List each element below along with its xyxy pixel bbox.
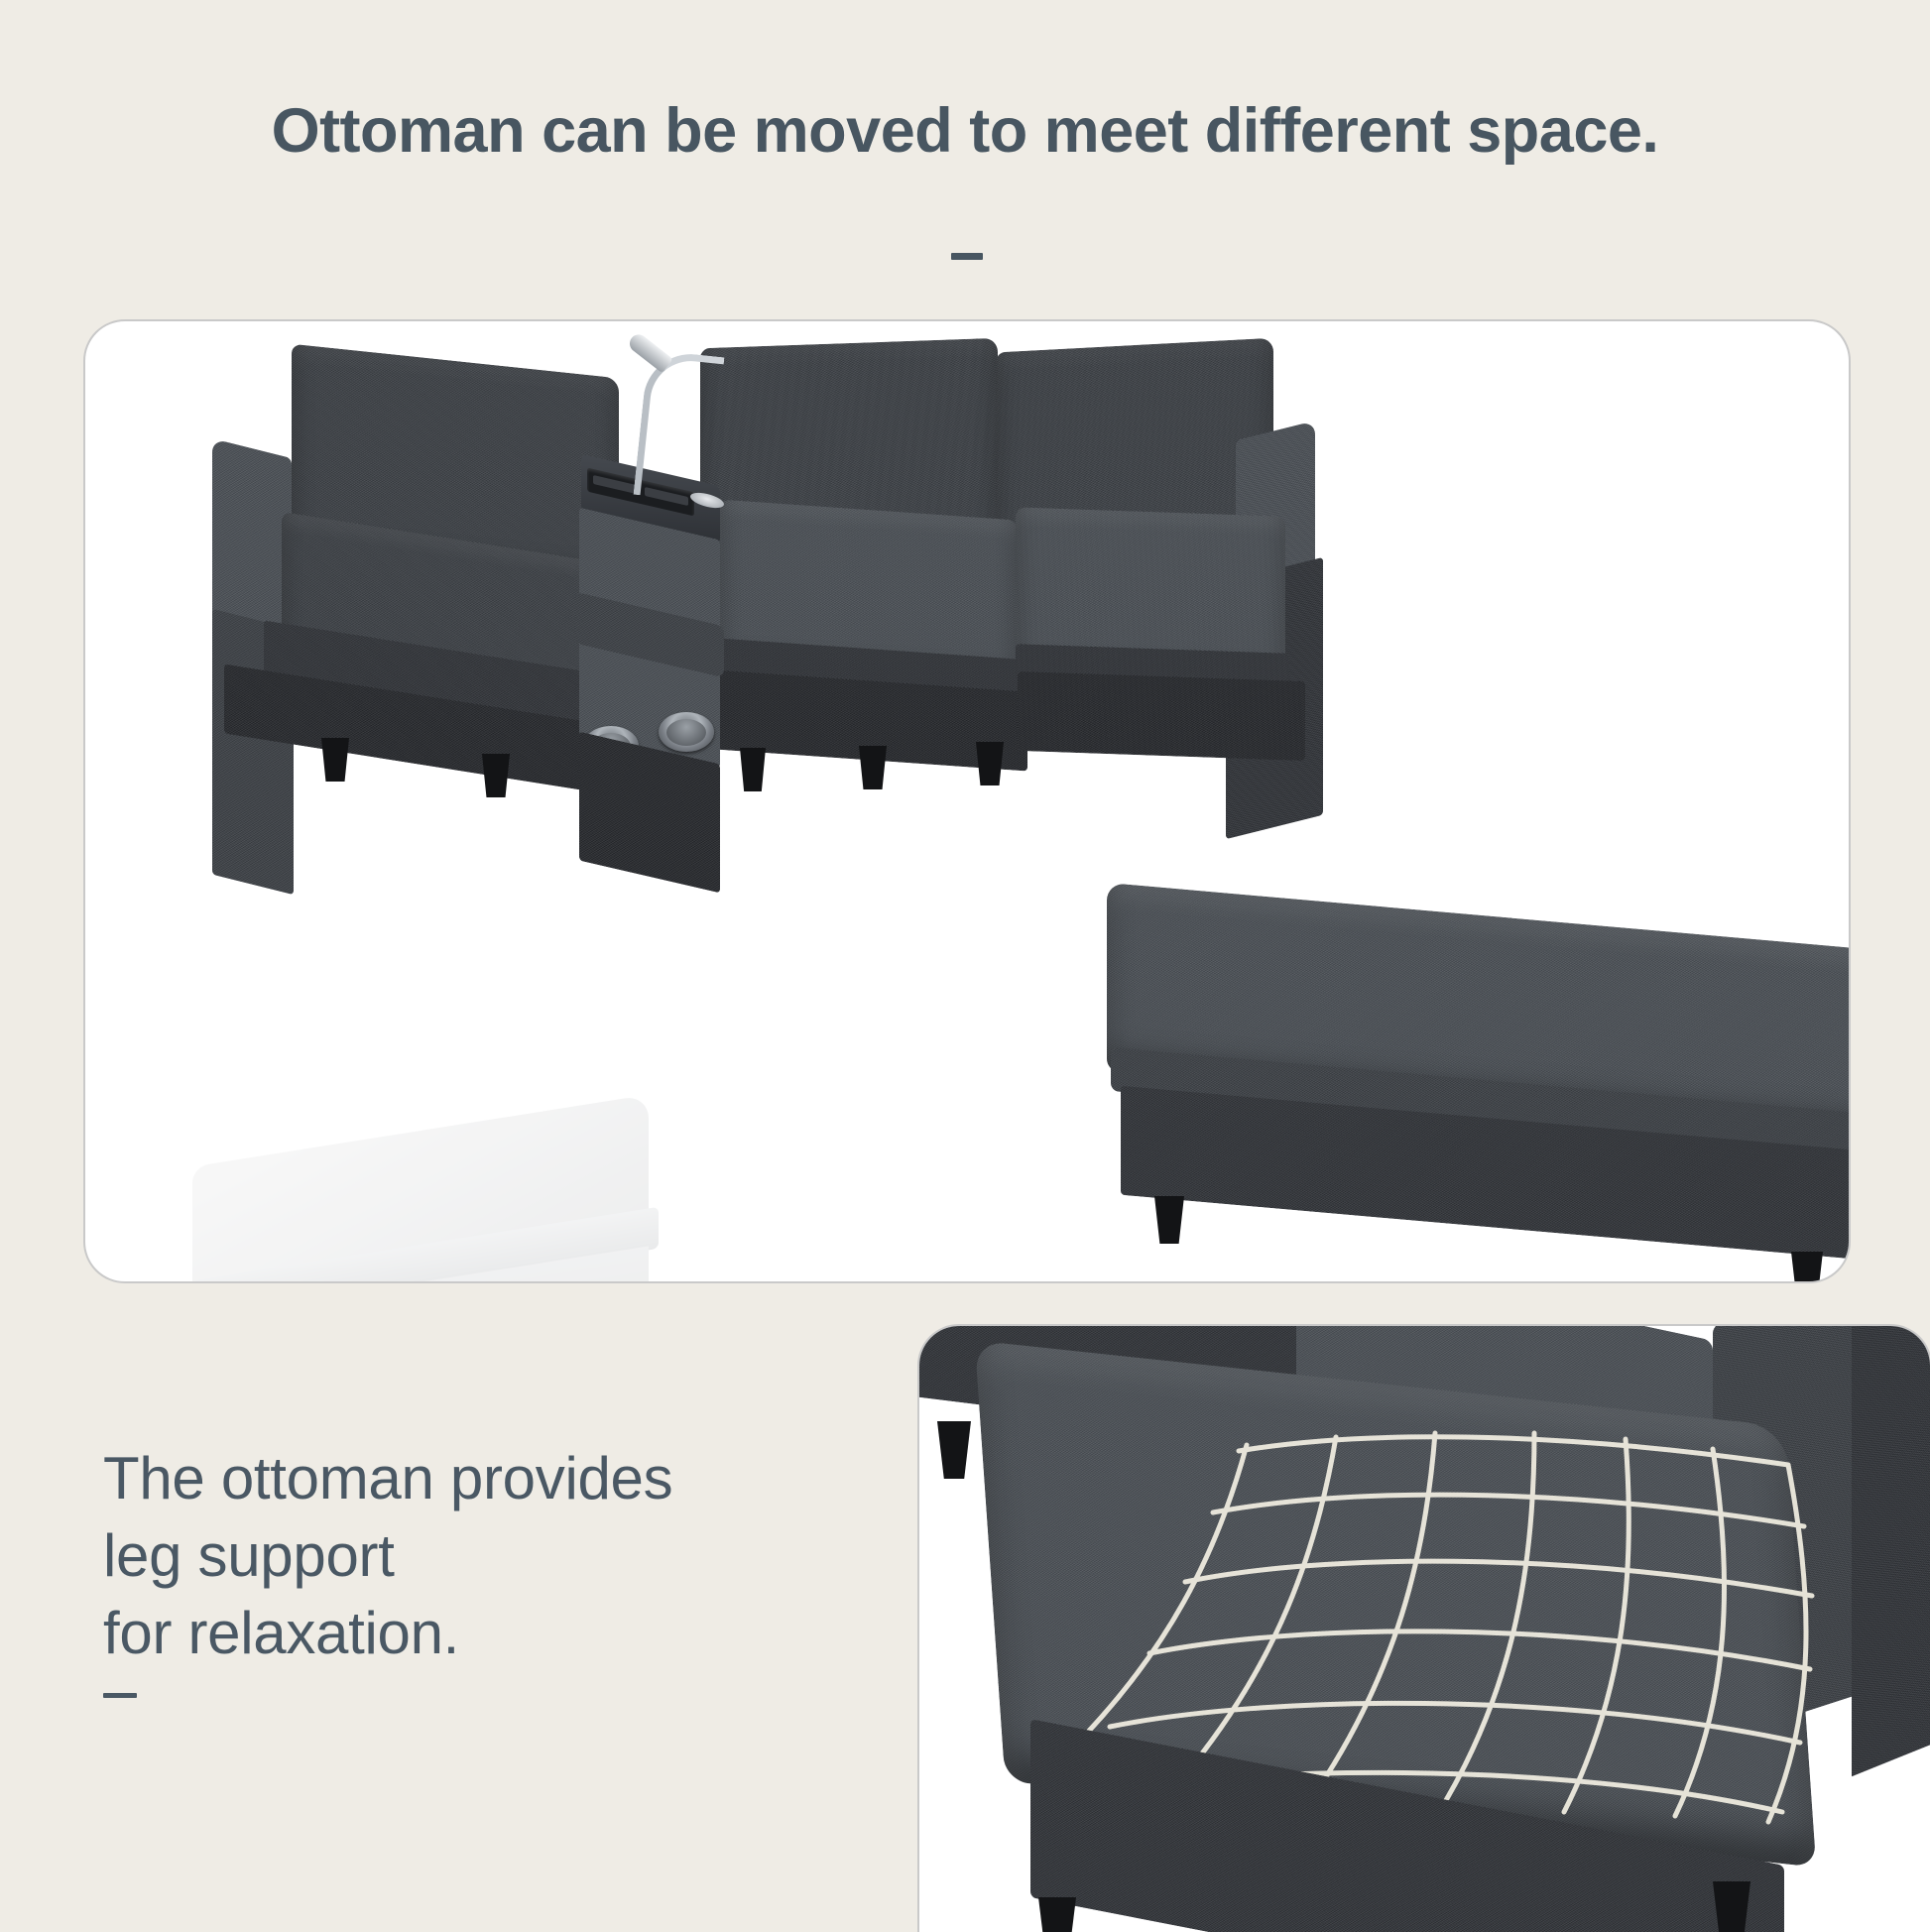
headline-divider [951, 253, 983, 260]
ottoman-module-current-position [1107, 916, 1851, 1264]
sofa-leg [482, 754, 510, 797]
ottoman-previous-position-ghost [192, 1105, 728, 1283]
gooseneck-lamp-arm [634, 349, 725, 502]
sofa-leg [976, 742, 1004, 785]
page-headline: Ottoman can be moved to meet different s… [0, 95, 1930, 167]
led-lamp-head [626, 331, 672, 374]
detail-photo-panel [917, 1324, 1930, 1932]
chevron-arrow-2 [833, 1281, 962, 1283]
ottoman-leg [1154, 1196, 1184, 1244]
sofa-leg [740, 748, 766, 791]
sofa-leg [321, 738, 349, 782]
closeup-sofa-leg [937, 1421, 971, 1479]
cup-holder-right [659, 712, 714, 752]
chevron-arrow-1 [752, 1281, 881, 1283]
ottoman-leg [1791, 1252, 1823, 1283]
closeup-ottoman-leg [1713, 1881, 1750, 1932]
subcopy-line-3: for relaxation. [103, 1595, 672, 1672]
center-console-module [581, 470, 720, 827]
infographic-canvas: Ottoman can be moved to meet different s… [0, 0, 1930, 1930]
ottoman-leg-support-closeup [919, 1326, 1930, 1932]
closeup-ottoman-leg [1038, 1897, 1076, 1932]
sofa-base-right [1018, 671, 1305, 761]
main-product-panel [83, 319, 1851, 1283]
motion-direction-chevrons [752, 1281, 1039, 1283]
subcopy-line-2: leg support [103, 1517, 672, 1595]
subcopy-line-1: The ottoman provides [103, 1440, 672, 1517]
closeup-sofa-right-arm [1852, 1324, 1930, 1776]
subcopy-divider [103, 1693, 137, 1698]
chevron-arrow-3 [914, 1281, 1043, 1283]
subcopy-block: The ottoman provides leg support for rel… [103, 1440, 672, 1672]
sofa-leg [859, 746, 887, 789]
